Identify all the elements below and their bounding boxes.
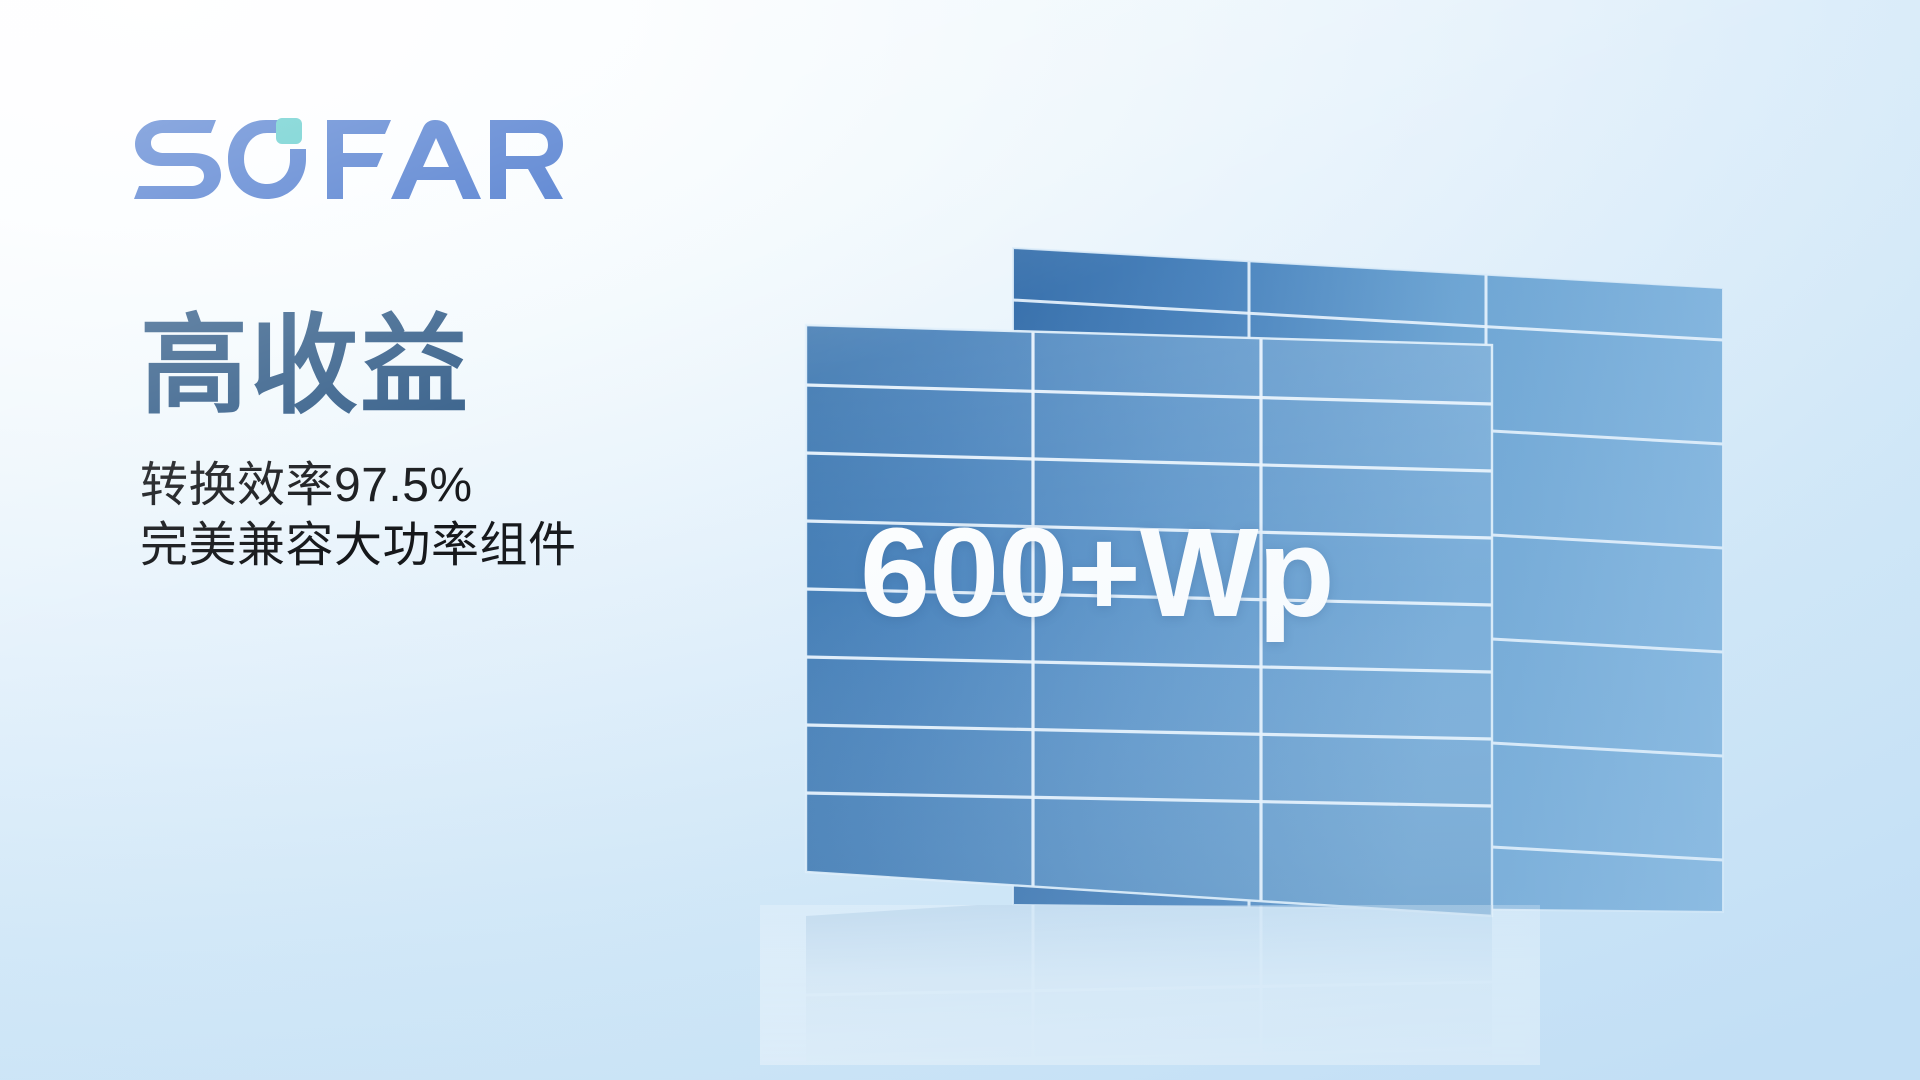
banner-stage: SOFAR 高收益 转换效率97.5% 完美兼容大功率组件 [0, 0, 1920, 1080]
power-rating-label: 600+Wp [860, 500, 1334, 645]
